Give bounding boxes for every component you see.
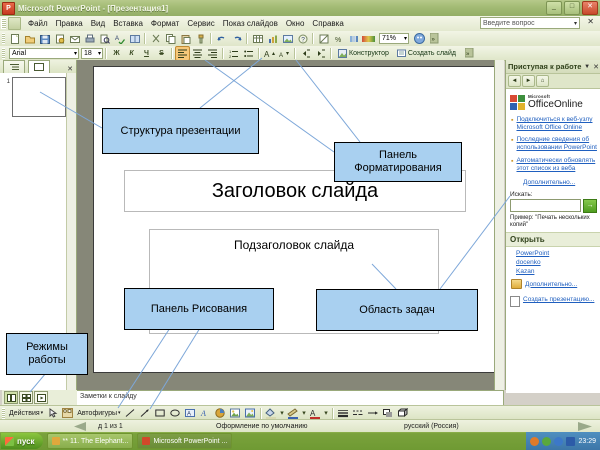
toolbar-separator (260, 408, 262, 419)
view-mode-buttons (2, 390, 78, 405)
recent-files-list: PowerPoint docenko Kazan (506, 247, 600, 279)
slide-area-scrollbar[interactable] (494, 60, 504, 390)
taskbar-item-label: Microsoft PowerPoint ... (153, 438, 227, 445)
new-slide-icon (397, 49, 406, 58)
online-label: Online (554, 99, 583, 110)
office-online-wordmark: Microsoft OfficeOnline (528, 95, 583, 110)
link-more[interactable]: Дополнительно... (511, 179, 575, 186)
toolbar-separator (210, 33, 212, 44)
help-icon[interactable]: ? (295, 31, 310, 46)
list-item[interactable]: ▪ Подключиться к веб-узлу Microsoft Offi… (511, 116, 598, 132)
actions-label: Действия (9, 410, 40, 417)
maximize-button[interactable]: □ (564, 1, 580, 15)
start-button[interactable]: пуск (1, 433, 43, 449)
office-label: Office (528, 99, 554, 110)
gradient-icon[interactable] (361, 31, 376, 46)
svg-text:A: A (310, 409, 316, 418)
menu-item-view[interactable]: Вид (87, 18, 109, 29)
toolbar-separator (312, 33, 314, 44)
increase-font-size-button[interactable]: A (262, 46, 277, 61)
chevron-down-icon[interactable]: ▼ (584, 64, 590, 70)
toolbar-separator (105, 48, 107, 59)
window-controls: _ □ ✕ (546, 1, 598, 15)
home-icon[interactable]: ⌂ (536, 75, 549, 87)
toolbar-separator (144, 33, 146, 44)
link-auto-update[interactable]: Автоматически обновлять этот список из в… (516, 157, 598, 173)
open-section-header: Открыть (506, 232, 600, 247)
office-logo-icon (510, 95, 525, 110)
list-item[interactable]: ▪ Последние сведения об использовании Po… (511, 136, 598, 152)
toolbar-separator (222, 48, 224, 59)
list-item[interactable]: 1 (0, 73, 76, 121)
toolbar-separator (330, 48, 332, 59)
toolbar-options-icon[interactable]: » (462, 46, 477, 61)
percent-icon[interactable]: % (331, 31, 346, 46)
network-icon[interactable] (542, 437, 551, 446)
callout-drawing-panel[interactable]: Панель Рисования (124, 288, 274, 330)
close-pane-icon[interactable]: ✕ (67, 65, 73, 73)
decrease-indent-button[interactable] (298, 46, 313, 61)
open-icon[interactable] (22, 31, 37, 46)
windows-taskbar: пуск ** 11. The Elephant... Microsoft Po… (0, 432, 600, 450)
chart-icon[interactable] (265, 31, 280, 46)
recent-file-kazan[interactable]: Kazan (516, 268, 597, 275)
toolbar-separator (171, 48, 173, 59)
close-button[interactable]: ✕ (582, 1, 598, 15)
link-open-more[interactable]: Дополнительно... (525, 281, 577, 288)
copy-icon[interactable] (163, 31, 178, 46)
title-placeholder-text: Заголовок слайда (212, 180, 378, 203)
toolbar-separator (258, 48, 260, 59)
bold-button[interactable]: Ж (109, 46, 124, 61)
color-bars-icon[interactable] (346, 31, 361, 46)
slide-thumbnail[interactable] (12, 77, 66, 117)
notes-placeholder: Заметки к слайду (80, 393, 137, 400)
title-bar: P Microsoft PowerPoint - [Презентация1] … (0, 0, 600, 17)
svg-text:2: 2 (229, 54, 232, 58)
save-icon[interactable] (37, 31, 52, 46)
insert-picture-icon[interactable] (280, 31, 295, 46)
autoshapes-label: Автофигуры (77, 410, 117, 417)
format-painter-icon[interactable] (193, 31, 208, 46)
slide-sorter-icon[interactable] (19, 391, 33, 404)
slide-number: 1 (2, 77, 12, 85)
chevron-down-icon[interactable]: ▾ (74, 50, 78, 57)
svg-text:A: A (200, 409, 206, 418)
design-icon (338, 49, 347, 58)
powerpoint-icon: P (2, 2, 15, 15)
callout-structure[interactable]: Структура презентации (102, 108, 259, 154)
chevron-down-icon[interactable]: ▾ (574, 20, 579, 27)
align-center-button[interactable] (190, 46, 205, 61)
ask-close-icon[interactable]: ✕ (587, 17, 594, 26)
table-icon[interactable] (250, 31, 265, 46)
search-section: Искать: → Пример: "Печать нескольких коп… (506, 188, 600, 232)
toolbar-grip[interactable] (2, 408, 5, 419)
scroll-right-icon[interactable] (570, 421, 600, 432)
chevron-down-icon[interactable]: ▾ (118, 410, 121, 416)
menu-item-help[interactable]: Справка (308, 18, 347, 29)
numbering-button[interactable]: 12 (226, 46, 241, 61)
menu-item-insert[interactable]: Вставка (109, 18, 147, 29)
svg-text:A: A (115, 36, 119, 42)
powerpoint-icon (142, 437, 150, 445)
menu-item-window[interactable]: Окно (282, 18, 309, 29)
pattern-icon[interactable] (316, 31, 331, 46)
svg-text:?: ? (301, 36, 305, 43)
decrease-font-size-button[interactable]: A (277, 46, 292, 61)
formatting-toolbar: Arial ▾ 18 ▾ Ж К Ч S 12 A A Конструктор (0, 46, 600, 61)
undo-icon[interactable] (214, 31, 229, 46)
toolbar-separator (332, 408, 334, 419)
system-tray: 23:29 (526, 432, 600, 450)
start-label: пуск (17, 437, 35, 446)
tab-slides[interactable] (28, 60, 50, 73)
actions-menu[interactable]: Действия ▾ (7, 410, 45, 417)
create-presentation-row[interactable]: Создать презентацию... (506, 292, 600, 309)
tab-outline[interactable] (3, 60, 25, 73)
preview-icon[interactable] (97, 31, 112, 46)
permission-icon[interactable] (52, 31, 67, 46)
toolbar-grip[interactable] (2, 48, 5, 59)
volume-icon[interactable] (554, 437, 563, 446)
status-bar: д 1 из 1 Оформление по умолчанию русский… (0, 419, 600, 433)
design-label: Конструктор (349, 50, 389, 57)
callout-view-modes[interactable]: Режимы работы (6, 333, 88, 375)
redo-icon[interactable] (229, 31, 244, 46)
language-icon[interactable] (566, 437, 575, 446)
taskbar-item-label: ** 11. The Elephant... (63, 438, 129, 445)
menu-item-file[interactable]: Файл (24, 18, 52, 29)
align-left-button[interactable] (175, 46, 190, 61)
clock[interactable]: 23:29 (578, 438, 596, 445)
chevron-down-icon[interactable]: ▾ (41, 410, 44, 416)
forward-icon[interactable]: ► (522, 75, 535, 87)
svg-text:%: % (335, 37, 341, 44)
spelling-icon[interactable]: A (112, 31, 127, 46)
office-online-logo: Microsoft OfficeOnline (506, 89, 600, 112)
chevron-down-icon[interactable]: ▾ (404, 35, 408, 42)
print-icon[interactable] (82, 31, 97, 46)
menu-item-tools[interactable]: Сервис (183, 18, 218, 29)
link-connect-office-online[interactable]: Подключиться к веб-узлу Microsoft Office… (516, 116, 598, 132)
language-indicator: русский (Россия) (400, 421, 463, 432)
folder-icon (511, 279, 522, 289)
pane-tabs: ✕ (0, 60, 76, 74)
scroll-left-icon[interactable] (0, 421, 94, 432)
new-icon[interactable] (7, 31, 22, 46)
menu-item-format[interactable]: Формат (147, 18, 183, 29)
task-pane-nav: ◄ ► ⌂ (506, 74, 600, 89)
svg-text:A: A (187, 411, 191, 417)
italic-button[interactable]: К (124, 46, 139, 61)
task-pane: Приступая к работе ▼ ✕ ◄ ► ⌂ Microsoft O… (505, 60, 600, 390)
window-title: Microsoft PowerPoint - [Презентация1] (18, 4, 168, 13)
search-label: Искать: (510, 191, 597, 198)
chevron-down-icon[interactable]: ▾ (98, 50, 102, 57)
callout-task-pane[interactable]: Область задач (316, 289, 478, 331)
ask-a-question-input[interactable]: Введите вопрос ▾ (480, 17, 580, 29)
list-item[interactable]: ▪ Автоматически обновлять этот список из… (511, 157, 598, 173)
underline-button[interactable]: Ч (139, 46, 154, 61)
font-size-combobox[interactable]: 18 ▾ (81, 48, 103, 59)
svg-text:A: A (279, 53, 283, 58)
search-example-text: Пример: "Печать нескольких копий" (510, 215, 597, 229)
subtitle-placeholder-text: Подзаголовок слайда (234, 238, 354, 252)
align-right-button[interactable] (205, 46, 220, 61)
link-create-presentation[interactable]: Создать презентацию... (523, 296, 594, 304)
task-pane-header: Приступая к работе ▼ ✕ (506, 60, 600, 74)
minimize-button[interactable]: _ (546, 1, 562, 15)
status-spacer (463, 421, 570, 432)
new-document-icon (510, 296, 520, 307)
menu-item-edit[interactable]: Правка (52, 18, 87, 29)
mail-icon[interactable] (67, 31, 82, 46)
media-icon (52, 437, 60, 445)
zoom-value: 71% (382, 35, 396, 42)
office-assistant-icon[interactable] (412, 31, 427, 46)
new-slide-button[interactable]: Создать слайд (393, 46, 460, 60)
paste-icon[interactable] (178, 31, 193, 46)
toolbar-separator (294, 48, 296, 59)
design-button[interactable]: Конструктор (334, 46, 393, 60)
menu-grip[interactable] (1, 18, 6, 29)
callout-formatting-panel[interactable]: Панель Форматирования (334, 142, 462, 182)
new-slide-label: Создать слайд (408, 50, 456, 57)
task-pane-body: Microsoft OfficeOnline ▪ Подключиться к … (506, 89, 600, 393)
office-online-links: ▪ Подключиться к веб-узлу Microsoft Offi… (506, 112, 600, 188)
font-size-value: 18 (84, 50, 92, 57)
recent-file-docenko[interactable]: docenko (516, 259, 597, 266)
zoom-combobox[interactable]: 71% ▾ (379, 33, 409, 44)
font-name-combobox[interactable]: Arial ▾ (9, 48, 79, 59)
notes-pane[interactable]: Заметки к слайду (77, 390, 504, 405)
taskbar-item-powerpoint[interactable]: Microsoft PowerPoint ... (137, 433, 232, 449)
task-pane-title: Приступая к работе (508, 62, 581, 71)
increase-indent-button[interactable] (313, 46, 328, 61)
close-icon[interactable]: ✕ (593, 63, 599, 71)
bullets-button[interactable] (241, 46, 256, 61)
normal-view-icon[interactable] (4, 391, 18, 404)
toolbar-separator (246, 33, 248, 44)
design-name: Оформление по умолчанию (212, 421, 400, 432)
search-go-button[interactable]: → (583, 199, 597, 213)
taskbar-item-elephant[interactable]: ** 11. The Elephant... (47, 433, 134, 449)
cut-icon[interactable] (148, 31, 163, 46)
back-icon[interactable]: ◄ (508, 75, 521, 87)
shadow-button[interactable]: S (154, 46, 169, 61)
bullet-icon: ▪ (511, 157, 513, 173)
font-name-value: Arial (12, 50, 26, 57)
research-icon[interactable] (127, 31, 142, 46)
autoshapes-menu[interactable]: Автофигуры ▾ (75, 410, 122, 417)
open-more-row[interactable]: Дополнительно... (506, 279, 600, 289)
slideshow-icon[interactable] (34, 391, 48, 404)
drawing-toolbar: Действия ▾ Автофигуры ▾ A A ▾ ▾ A ▾ (0, 405, 600, 420)
bullet-icon: ▪ (511, 116, 513, 132)
recent-file-powerpoint[interactable]: PowerPoint (516, 250, 597, 257)
ask-a-question-placeholder: Введите вопрос (483, 20, 535, 27)
bullet-icon: ▪ (511, 136, 513, 152)
toolbar-grip[interactable] (2, 33, 5, 44)
document-icon (8, 17, 21, 30)
antivirus-icon[interactable] (530, 437, 539, 446)
search-input[interactable] (510, 199, 581, 212)
svg-text:A: A (264, 50, 270, 58)
toolbar-options-icon[interactable]: » (427, 31, 442, 46)
windows-flag-icon (5, 437, 14, 446)
powerpoint-window: P Microsoft PowerPoint - [Презентация1] … (0, 0, 600, 450)
menu-item-slideshow[interactable]: Показ слайдов (219, 18, 282, 29)
standard-toolbar: A ? % 71% ▾ » (0, 31, 600, 47)
slide-counter: д 1 из 1 (94, 421, 212, 432)
link-latest-news[interactable]: Последние сведения об использовании Powe… (516, 136, 598, 152)
